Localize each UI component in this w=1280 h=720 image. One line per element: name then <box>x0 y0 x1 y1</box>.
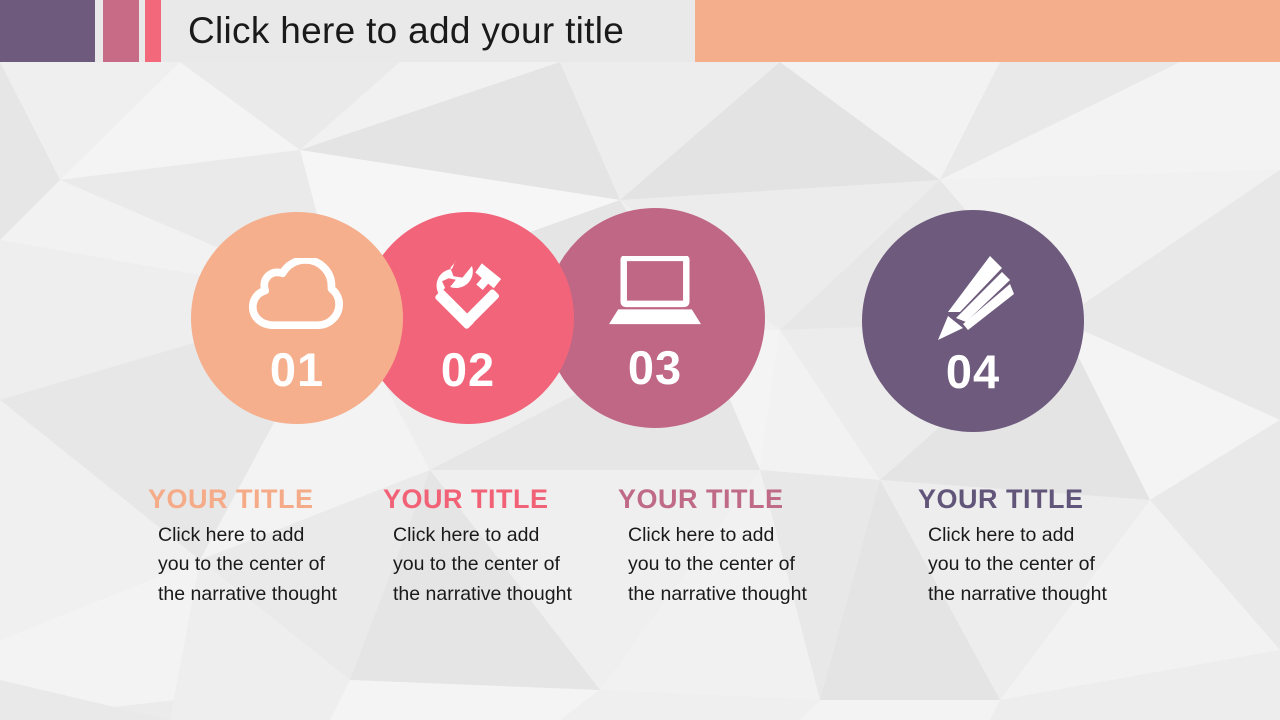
step-body-02[interactable]: Click here to add you to the center of t… <box>383 521 573 609</box>
step-title-02[interactable]: YOUR TITLE <box>383 484 633 515</box>
step-title-03[interactable]: YOUR TITLE <box>618 484 868 515</box>
laptop-icon <box>609 256 701 331</box>
step-title-01[interactable]: YOUR TITLE <box>148 484 398 515</box>
step-text-column-02: YOUR TITLE Click here to add you to the … <box>383 484 633 609</box>
step-number-03: 03 <box>545 344 765 391</box>
slide-canvas: Click here to add your title 01 02 <box>0 0 1280 720</box>
step-body-03[interactable]: Click here to add you to the center of t… <box>618 521 808 609</box>
slide-title-placeholder[interactable]: Click here to add your title <box>188 0 624 62</box>
step-text-column-03: YOUR TITLE Click here to add you to the … <box>618 484 868 609</box>
step-body-01[interactable]: Click here to add you to the center of t… <box>148 521 338 609</box>
step-title-04[interactable]: YOUR TITLE <box>918 484 1168 515</box>
header-accent-bar-pink <box>145 0 161 62</box>
step-circle-01[interactable]: 01 <box>191 212 403 424</box>
header-accent-bar-mauve <box>103 0 139 62</box>
step-number-01: 01 <box>191 346 403 393</box>
step-text-column-04: YOUR TITLE Click here to add you to the … <box>918 484 1168 609</box>
step-circle-03[interactable]: 03 <box>545 208 765 428</box>
step-circle-04[interactable]: 04 <box>862 210 1084 432</box>
step-number-04: 04 <box>862 348 1084 395</box>
header-accent-bar-orange <box>695 0 1280 62</box>
cloud-icon <box>249 258 345 337</box>
pencil-icon <box>930 254 1016 349</box>
step-text-column-01: YOUR TITLE Click here to add you to the … <box>148 484 398 609</box>
header-accent-bar-purple <box>0 0 95 62</box>
step-body-04[interactable]: Click here to add you to the center of t… <box>918 521 1108 609</box>
hammer-wrench-icon <box>422 256 514 353</box>
